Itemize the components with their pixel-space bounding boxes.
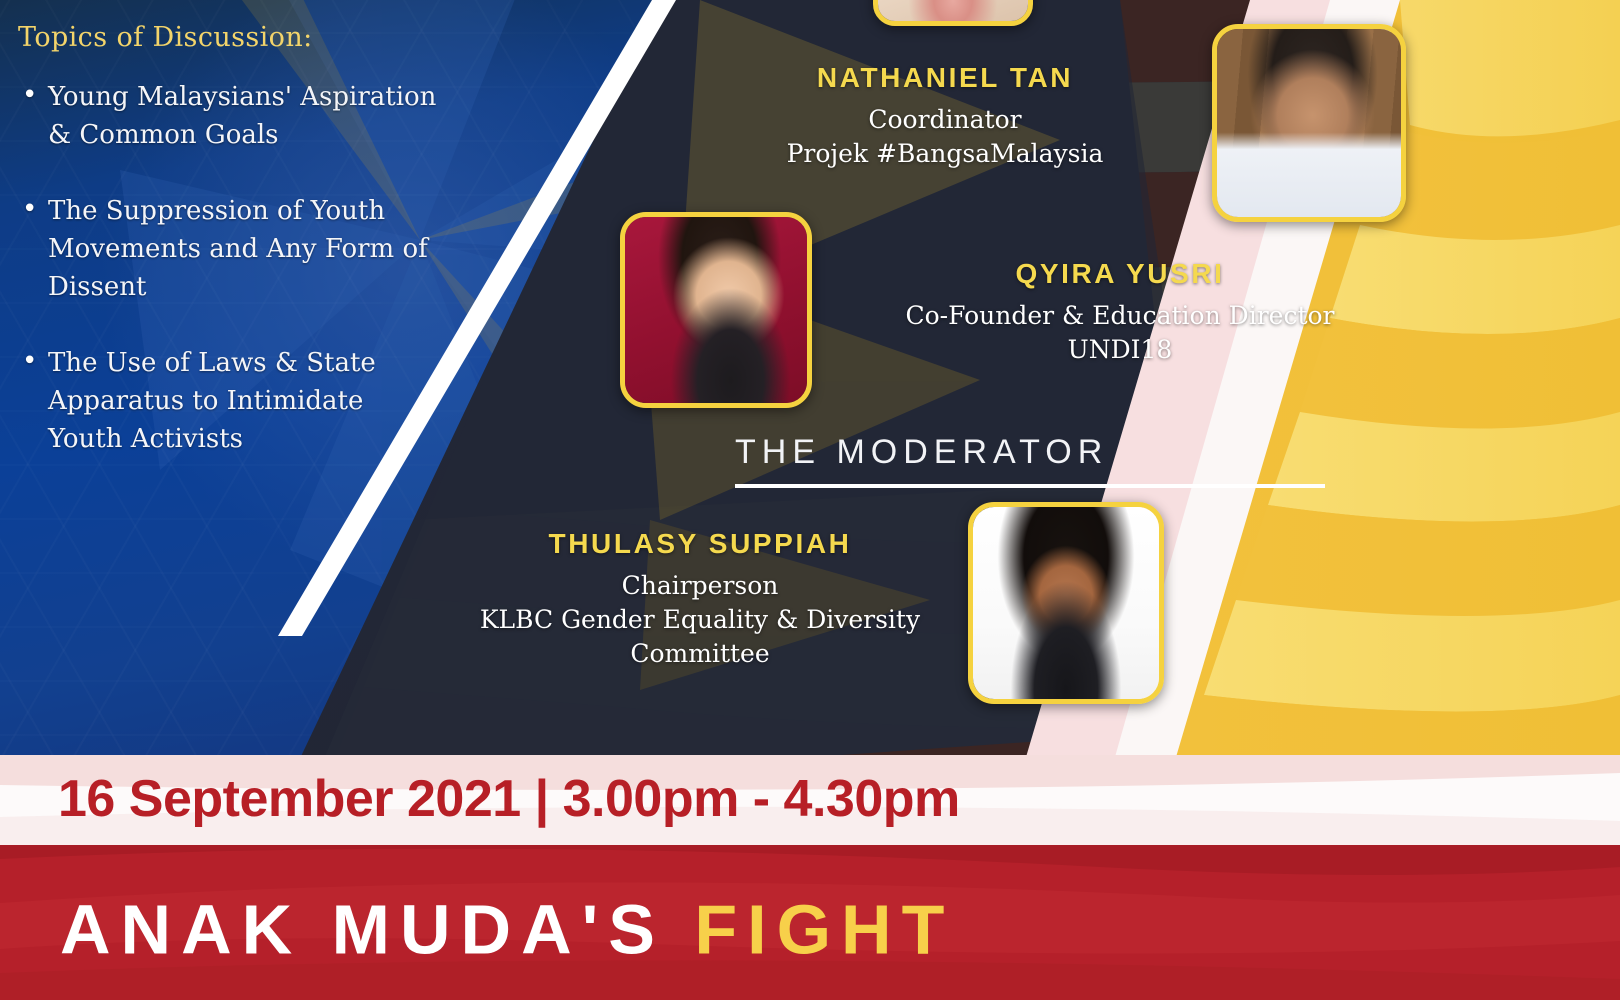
speaker-block-thulasy-suppiah: THULASY SUPPIAH Chairperson KLBC Gender … [440,528,960,671]
title-band: ANAK MUDA'S FIGHT [0,845,1620,1000]
speaker-name: QYIRA YUSRI [820,258,1420,290]
topic-item: The Suppression of Youth Movements and A… [48,193,438,307]
topic-item: Young Malaysians' Aspiration & Common Go… [48,79,438,155]
moderator-role: Chairperson [440,569,960,603]
moderator-photo-thulasy-suppiah [968,502,1164,704]
thulasy-suppiah-headshot-image [973,507,1159,699]
speaker-name: NATHANIEL TAN [650,62,1240,94]
speaker-photo-partial-top [873,0,1033,26]
moderator-org-line1: KLBC Gender Equality & Diversity [440,603,960,637]
topics-list: Young Malaysians' Aspiration & Common Go… [18,79,438,459]
speaker-photo-qyira-yusri [620,212,812,408]
date-band: 16 September 2021 | 3.00pm - 4.30pm [0,755,1620,845]
speaker-photo-nathaniel-tan [1212,24,1406,222]
speaker-role: Coordinator [650,103,1240,137]
topics-section: Topics of Discussion: Young Malaysians' … [18,22,438,497]
speaker-org: UNDI18 [820,333,1420,367]
speaker-block-qyira-yusri: QYIRA YUSRI Co-Founder & Education Direc… [820,258,1420,367]
poster-title: ANAK MUDA'S FIGHT [60,889,954,969]
moderator-heading-group: THE MODERATOR [735,433,1325,488]
topic-item: The Use of Laws & State Apparatus to Int… [48,345,438,459]
moderator-name: THULASY SUPPIAH [440,528,960,560]
speaker-org: Projek #BangsaMalaysia [650,137,1240,171]
moderator-org-line2: Committee [440,637,960,671]
qyira-yusri-headshot-image [625,217,807,403]
poster-title-main: ANAK MUDA'S [60,890,694,968]
poster-title-highlight: FIGHT [694,890,954,968]
speaker-block-nathaniel-tan: NATHANIEL TAN Coordinator Projek #Bangsa… [650,62,1240,171]
moderator-underline [735,484,1325,488]
moderator-heading: THE MODERATOR [735,433,1325,472]
event-poster: Topics of Discussion: Young Malaysians' … [0,0,1620,1000]
event-date-time: 16 September 2021 | 3.00pm - 4.30pm [58,769,960,829]
partial-headshot-image [878,0,1028,21]
nathaniel-tan-headshot-image [1217,29,1401,217]
topics-heading: Topics of Discussion: [18,22,438,53]
speaker-role: Co-Founder & Education Director [820,299,1420,333]
